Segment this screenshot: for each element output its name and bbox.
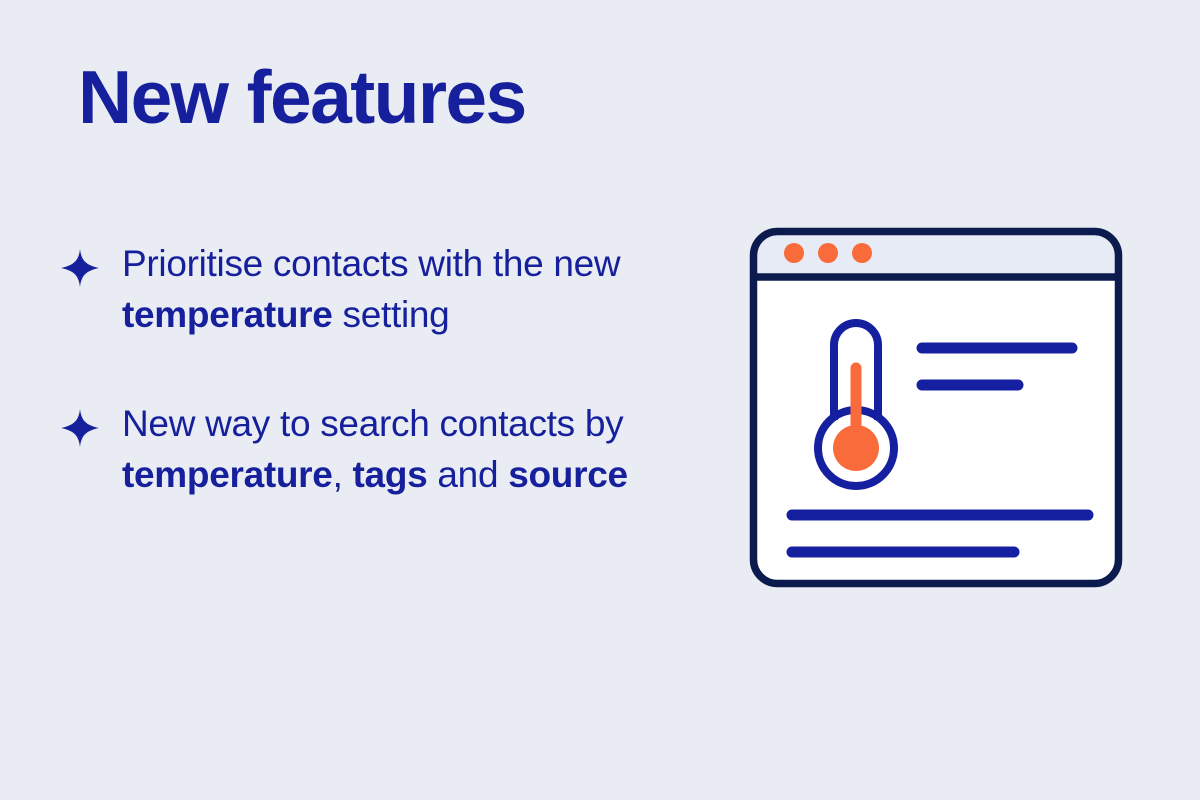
feature-segment-bold: source [508, 454, 628, 495]
feature-segment: and [427, 454, 508, 495]
orange-dot [818, 243, 838, 263]
feature-list: Prioritise contacts with the new tempera… [60, 238, 700, 500]
feature-text: Prioritise contacts with the new tempera… [122, 238, 700, 340]
thermometer-mercury-bulb [833, 425, 879, 471]
feature-text: New way to search contacts by temperatur… [122, 398, 700, 500]
feature-segment-bold: temperature [122, 294, 333, 335]
slide-canvas: New features Prioritise contacts with th… [0, 0, 1200, 800]
orange-dot [852, 243, 872, 263]
list-item: Prioritise contacts with the new tempera… [60, 238, 700, 340]
feature-segment: Prioritise contacts with the new [122, 243, 620, 284]
orange-dot [784, 243, 804, 263]
feature-segment-bold: temperature [122, 454, 333, 495]
feature-segment: New way to search contacts by [122, 403, 623, 444]
window-body [754, 232, 1119, 584]
browser-window-thermometer-illustration [742, 220, 1130, 595]
window-titlebar [750, 228, 1122, 277]
page-title: New features [78, 58, 526, 137]
sparkle-icon [60, 408, 100, 448]
sparkle-icon [60, 248, 100, 288]
feature-segment: setting [333, 294, 450, 335]
feature-segment: , [333, 454, 353, 495]
list-item: New way to search contacts by temperatur… [60, 398, 700, 500]
feature-segment-bold: tags [353, 454, 428, 495]
